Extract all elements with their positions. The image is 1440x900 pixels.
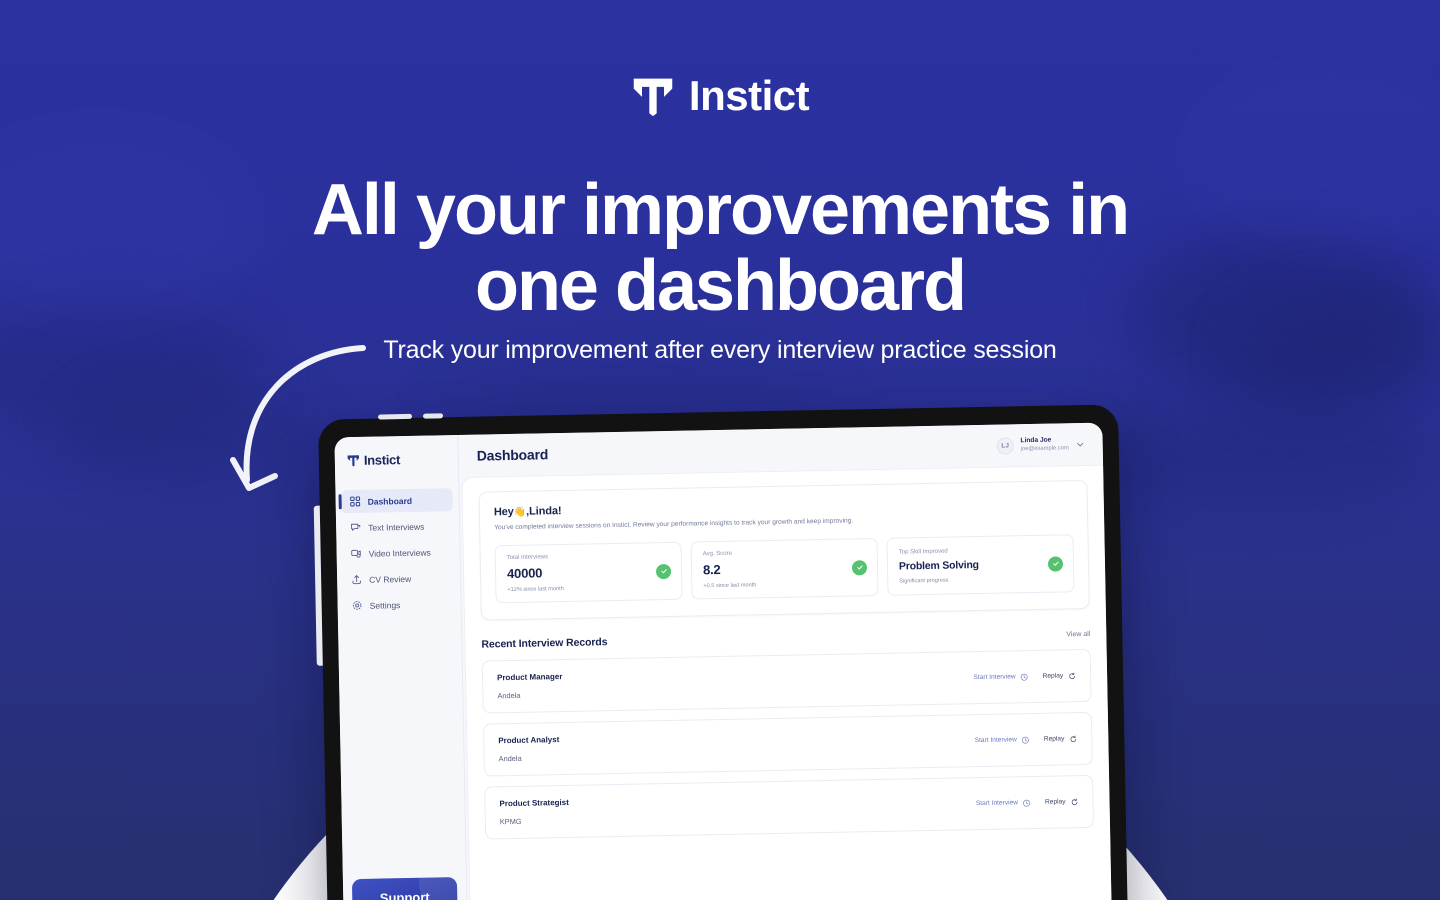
sidebar-item-label: Settings: [370, 600, 401, 611]
record-company: Andela: [497, 690, 563, 700]
record-info: Product Analyst Andela: [498, 735, 560, 763]
record-company: KPMG: [500, 816, 570, 826]
greeting-prefix: Hey: [494, 506, 514, 518]
record-company: Andela: [499, 753, 560, 763]
refresh-icon: [1068, 672, 1076, 680]
record-actions: Start Interview Replay: [973, 672, 1076, 682]
sidebar-brand: Instict: [335, 451, 458, 468]
record-actions: Start Interview Replay: [975, 735, 1078, 745]
start-interview-button[interactable]: Start Interview: [976, 799, 1031, 808]
headline-line-2: one dashboard: [0, 248, 1440, 324]
avatar: LJ: [996, 437, 1013, 454]
record-info: Product Manager Andela: [497, 672, 563, 700]
replay-button[interactable]: Replay: [1043, 672, 1077, 681]
stat-text: Total Interviews 40000 +12% since last m…: [507, 554, 564, 593]
start-interview-label: Start Interview: [973, 673, 1015, 681]
app-main: Dashboard LJ Linda Joe joe@example.com: [458, 423, 1112, 900]
start-interview-label: Start Interview: [976, 799, 1018, 807]
replay-label: Replay: [1043, 672, 1064, 679]
stat-card-total-interviews: Total Interviews 40000 +12% since last m…: [495, 542, 683, 604]
record-role: Product Analyst: [498, 735, 559, 745]
greeting-suffix: ,Linda!: [526, 505, 562, 518]
stat-label: Top Skill Improved: [899, 548, 979, 556]
replay-label: Replay: [1044, 735, 1065, 742]
clock-icon: [1021, 673, 1029, 681]
chevron-down-icon[interactable]: [1076, 439, 1085, 448]
check-circle-icon: [1048, 556, 1063, 571]
clock-icon: [1023, 799, 1031, 807]
stat-value: Problem Solving: [899, 559, 979, 573]
record-info: Product Strategist KPMG: [499, 798, 569, 826]
replay-label: Replay: [1045, 798, 1066, 805]
table-row[interactable]: Product Analyst Andela Start Interview R…: [483, 712, 1093, 777]
page-subheadline: Track your improvement after every inter…: [0, 336, 1440, 365]
start-interview-label: Start Interview: [975, 736, 1017, 744]
start-interview-button[interactable]: Start Interview: [973, 673, 1028, 682]
sidebar-item-cv-review[interactable]: CV Review: [343, 566, 454, 591]
view-all-link[interactable]: View all: [1066, 631, 1090, 638]
tablet-device: Instict Dashboard: [318, 404, 1129, 900]
sidebar-item-label: Dashboard: [368, 495, 413, 506]
records-header: Recent Interview Records View all: [481, 627, 1090, 651]
clock-icon: [1022, 736, 1030, 744]
stat-label: Avg. Score: [703, 550, 756, 557]
grid-icon: [350, 496, 361, 507]
stat-delta: +12% since last month: [507, 586, 564, 593]
user-info: Linda Joe joe@example.com: [1020, 436, 1068, 454]
records-title: Recent Interview Records: [481, 636, 607, 650]
record-actions: Start Interview Replay: [976, 798, 1079, 808]
sidebar-brand-name: Instict: [364, 452, 400, 468]
stat-label: Total Interviews: [507, 554, 564, 561]
video-camera-icon: [351, 548, 362, 559]
stat-card-avg-score: Avg. Score 8.2 +0.5 since last month: [690, 538, 878, 600]
refresh-icon: [1070, 798, 1078, 806]
refresh-icon: [1069, 735, 1077, 743]
message-icon: [350, 522, 361, 533]
sidebar-item-label: Video Interviews: [369, 547, 431, 558]
sidebar-item-dashboard[interactable]: Dashboard: [341, 488, 452, 513]
page-headline: All your improvements in one dashboard: [0, 172, 1440, 325]
upload-icon: [351, 574, 362, 585]
replay-button[interactable]: Replay: [1044, 735, 1078, 744]
support-card: Support To ensure timely and efficient c…: [352, 877, 459, 900]
wave-emoji-icon: 👋: [514, 507, 527, 518]
sidebar-item-label: CV Review: [369, 573, 411, 584]
gear-icon: [352, 600, 363, 611]
stat-text: Avg. Score 8.2 +0.5 since last month: [703, 550, 757, 589]
brand-name: Instict: [689, 75, 809, 117]
page-root: Instict All your improvements in one das…: [0, 0, 1440, 900]
stat-cards: Total Interviews 40000 +12% since last m…: [495, 534, 1075, 603]
headline-line-1: All your improvements in: [0, 172, 1440, 248]
table-row[interactable]: Product Manager Andela Start Interview R…: [482, 649, 1092, 714]
shield-trident-logo-icon: [347, 454, 360, 467]
stat-value: 8.2: [703, 561, 756, 577]
sidebar-nav: Dashboard Text Interviews: [335, 488, 460, 617]
shield-trident-logo-icon: [631, 74, 675, 118]
tablet-screen: Instict Dashboard: [334, 423, 1112, 900]
sidebar-item-video-interviews[interactable]: Video Interviews: [342, 540, 453, 565]
replay-button[interactable]: Replay: [1045, 798, 1079, 807]
user-menu[interactable]: LJ Linda Joe joe@example.com: [996, 435, 1084, 454]
brand-lockup: Instict: [0, 74, 1440, 118]
stat-card-top-skill-improved: Top Skill Improved Problem Solving Signi…: [886, 534, 1074, 596]
dashboard-content: Hey👋,Linda! You've completed interview s…: [461, 465, 1112, 900]
support-title: Support: [361, 889, 448, 900]
check-circle-icon: [852, 560, 867, 575]
start-interview-button[interactable]: Start Interview: [975, 736, 1030, 745]
sidebar-item-settings[interactable]: Settings: [343, 592, 454, 617]
stat-delta: Significant progress: [899, 577, 979, 585]
sidebar-item-label: Text Interviews: [368, 521, 424, 532]
app-sidebar: Instict Dashboard: [334, 435, 468, 900]
stat-delta: +0.5 since last month: [703, 582, 756, 589]
page-title: Dashboard: [477, 446, 549, 463]
record-role: Product Manager: [497, 672, 563, 682]
record-role: Product Strategist: [499, 798, 569, 808]
tablet-volume-button-up[interactable]: [378, 414, 412, 420]
stat-text: Top Skill Improved Problem Solving Signi…: [899, 548, 980, 585]
user-email: joe@example.com: [1021, 445, 1069, 454]
stat-value: 40000: [507, 565, 564, 581]
check-circle-icon: [656, 563, 671, 578]
sidebar-item-text-interviews[interactable]: Text Interviews: [342, 514, 453, 539]
tablet-volume-button-down[interactable]: [423, 413, 443, 418]
welcome-panel: Hey👋,Linda! You've completed interview s…: [478, 480, 1089, 621]
table-row[interactable]: Product Strategist KPMG Start Interview …: [484, 775, 1094, 840]
